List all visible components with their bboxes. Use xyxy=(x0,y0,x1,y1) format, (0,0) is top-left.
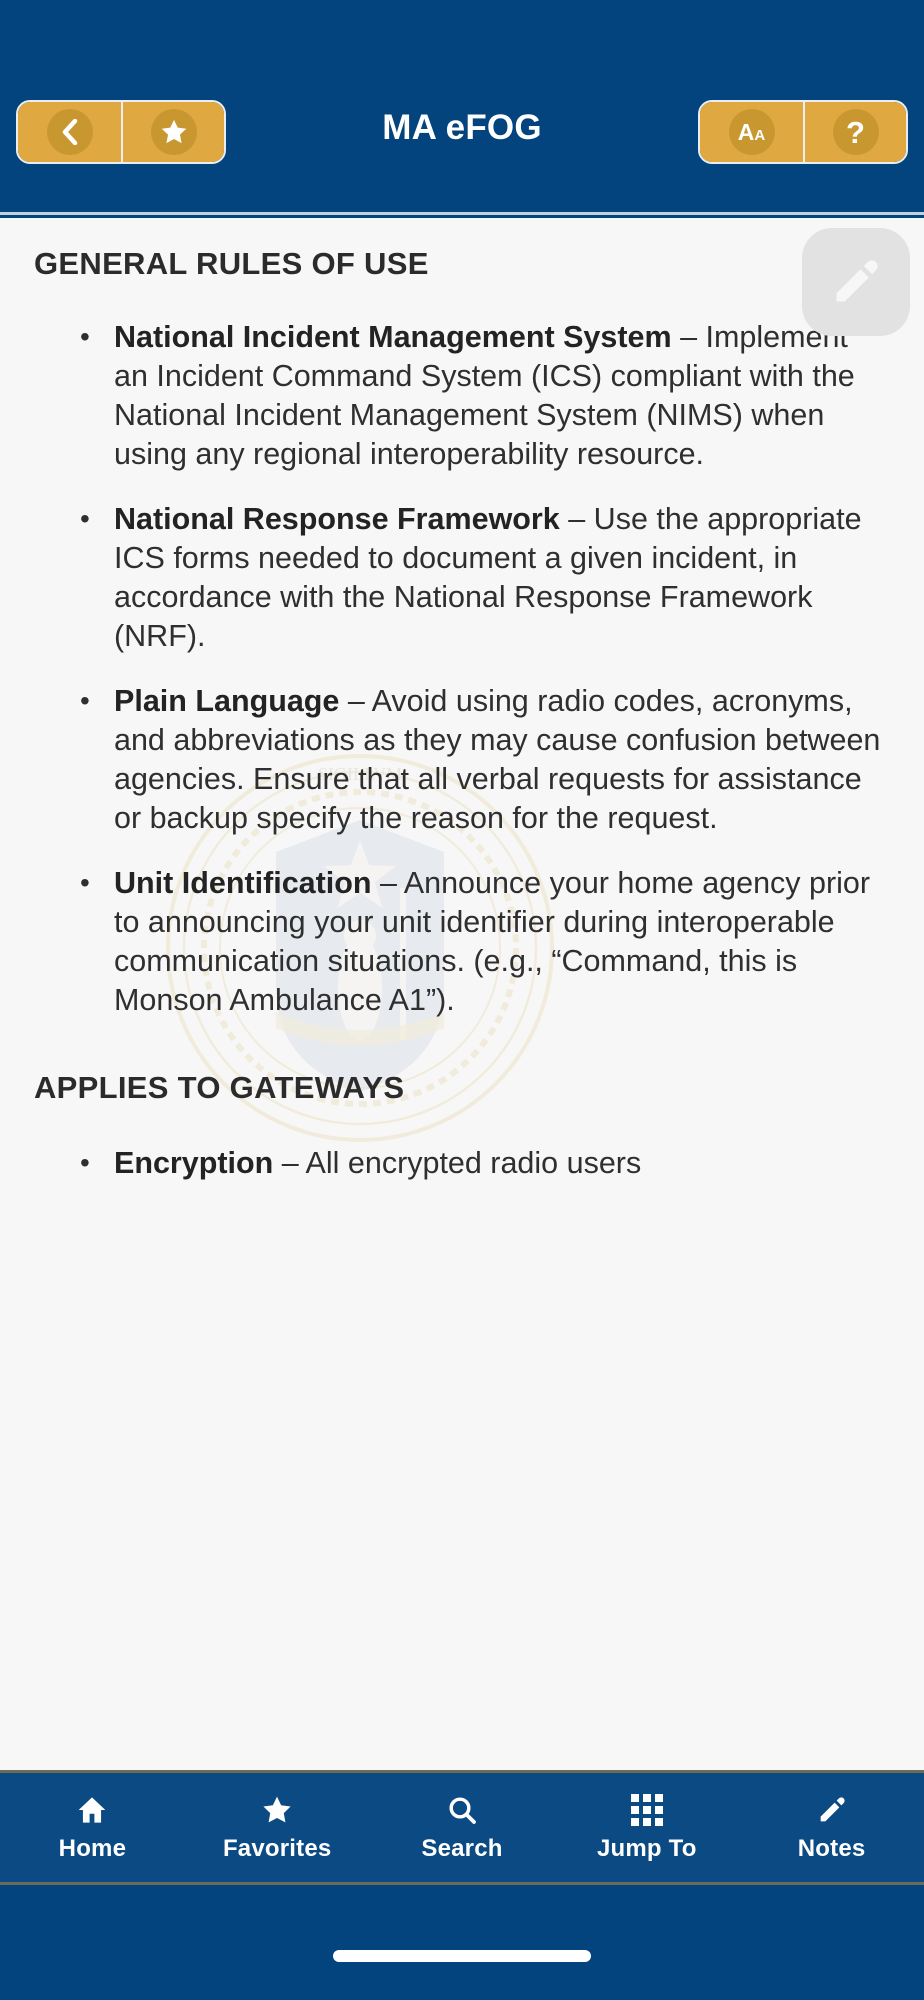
tab-label: Notes xyxy=(798,1835,866,1863)
nav-left-button-group xyxy=(16,100,226,164)
document-body: GENERAL RULES OF USE National Incident M… xyxy=(0,218,924,1183)
nav-right-button-group: AA ? xyxy=(698,100,908,164)
question-mark-icon: ? xyxy=(833,109,879,155)
tab-label: Home xyxy=(59,1835,126,1863)
tab-label: Search xyxy=(421,1835,502,1863)
list-item: Encryption – All encrypted radio users xyxy=(80,1144,890,1183)
tab-favorites[interactable]: Favorites xyxy=(185,1793,370,1863)
rule-term: Unit Identification xyxy=(114,866,372,900)
favorite-button[interactable] xyxy=(121,102,224,162)
section-heading-general-rules-of-use: GENERAL RULES OF USE xyxy=(34,246,890,282)
home-icon xyxy=(76,1793,108,1827)
document-scroll-area[interactable]: SIGILLVM GENERAL RULES OF USE National I… xyxy=(0,218,924,1770)
star-icon xyxy=(261,1793,293,1827)
chevron-left-icon xyxy=(47,109,93,155)
navigation-bar: MA eFOG AA ? xyxy=(0,80,924,215)
bottom-tab-bar: Home Favorites Search xyxy=(0,1770,924,1885)
rules-list-gateways: Encryption – All encrypted radio users xyxy=(34,1144,890,1183)
tab-label: Jump To xyxy=(597,1835,697,1863)
search-icon xyxy=(446,1793,478,1827)
tab-jump-to[interactable]: Jump To xyxy=(554,1793,739,1863)
grid-icon xyxy=(631,1793,663,1827)
app-root: MA eFOG AA ? xyxy=(0,0,924,2000)
rule-term: Plain Language xyxy=(114,684,339,718)
rule-term: Encryption xyxy=(114,1146,273,1180)
pencil-icon xyxy=(816,1793,848,1827)
tab-notes[interactable]: Notes xyxy=(739,1793,924,1863)
section-heading-applies-to-gateways: APPLIES TO GATEWAYS xyxy=(34,1070,890,1106)
list-item: National Response Framework – Use the ap… xyxy=(80,500,890,656)
tab-home[interactable]: Home xyxy=(0,1793,185,1863)
text-size-button[interactable]: AA xyxy=(700,102,803,162)
help-button[interactable]: ? xyxy=(803,102,906,162)
home-indicator[interactable] xyxy=(333,1950,591,1962)
list-item: Plain Language – Avoid using radio codes… xyxy=(80,682,890,838)
list-item: Unit Identification – Announce your home… xyxy=(80,864,890,1020)
text-size-icon: AA xyxy=(729,109,775,155)
status-bar-area xyxy=(0,0,924,80)
rule-body: – All encrypted radio users xyxy=(273,1146,641,1180)
rule-term: National Incident Management System xyxy=(114,320,672,354)
tab-search[interactable]: Search xyxy=(370,1793,555,1863)
pencil-icon xyxy=(830,256,882,308)
back-button[interactable] xyxy=(18,102,121,162)
rules-list-general: National Incident Management System – Im… xyxy=(34,318,890,1020)
edit-note-button[interactable] xyxy=(802,228,910,336)
rule-term: National Response Framework xyxy=(114,502,560,536)
list-item: National Incident Management System – Im… xyxy=(80,318,890,474)
tab-label: Favorites xyxy=(223,1835,332,1863)
star-icon xyxy=(151,109,197,155)
